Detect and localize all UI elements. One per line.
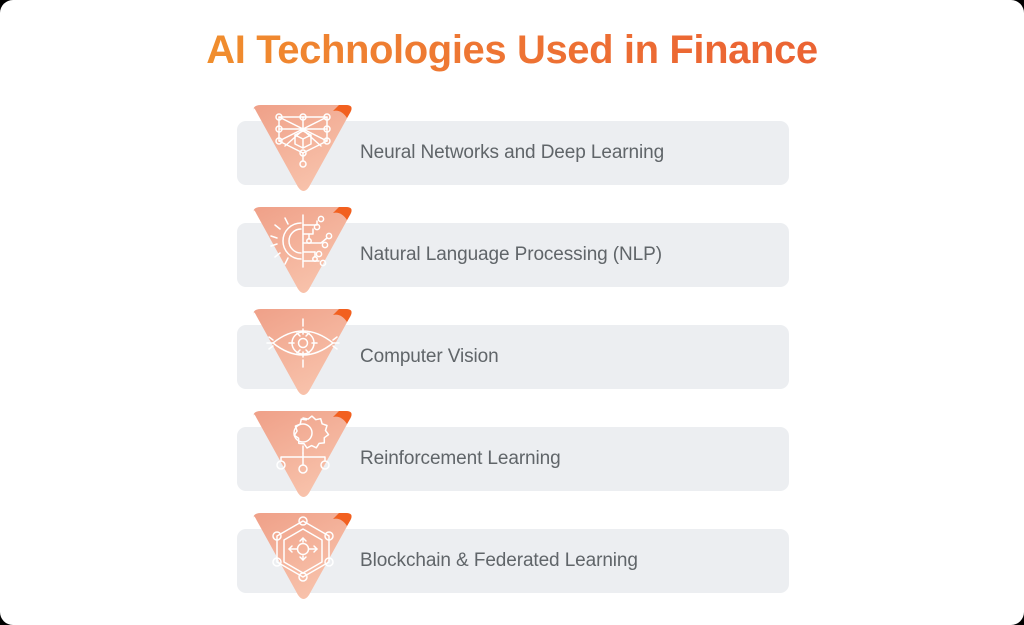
technology-list: Neural Networks and Deep Learning	[237, 103, 789, 613]
list-item[interactable]: Computer Vision	[237, 307, 789, 409]
list-item[interactable]: Neural Networks and Deep Learning	[237, 103, 789, 205]
item-label: Neural Networks and Deep Learning	[360, 121, 664, 185]
badge-gear-circuit-brain-icon	[245, 205, 362, 293]
list-item[interactable]: Reinforcement Learning	[237, 409, 789, 511]
badge-eye-target-icon	[245, 307, 362, 395]
list-item[interactable]: Blockchain & Federated Learning	[237, 511, 789, 613]
item-label: Reinforcement Learning	[360, 427, 561, 491]
badge-neural-network-icon	[245, 103, 362, 191]
list-item[interactable]: Natural Language Processing (NLP)	[237, 205, 789, 307]
item-label: Computer Vision	[360, 325, 499, 389]
page-title: AI Technologies Used in Finance	[0, 28, 1024, 73]
badge-hexagon-network-icon	[245, 511, 362, 599]
item-label: Natural Language Processing (NLP)	[360, 223, 662, 287]
slide-canvas: AI Technologies Used in Finance	[0, 0, 1024, 625]
badge-gear-hierarchy-icon	[245, 409, 362, 497]
item-label: Blockchain & Federated Learning	[360, 529, 638, 593]
